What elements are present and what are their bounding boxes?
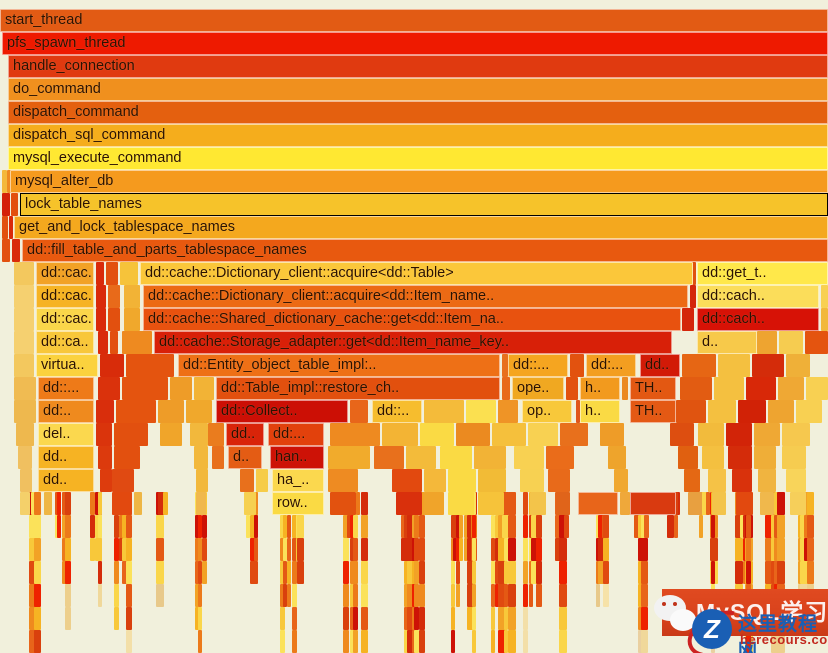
flame-frame-unlabeled[interactable] bbox=[782, 446, 806, 469]
flame-frame-labeled[interactable]: dd::cach.. bbox=[697, 308, 819, 331]
flame-frame-unlabeled[interactable] bbox=[297, 538, 304, 561]
flame-frame-unlabeled[interactable] bbox=[65, 492, 71, 515]
flame-frame-unlabeled[interactable] bbox=[160, 423, 182, 446]
flame-frame-unlabeled[interactable] bbox=[746, 538, 751, 561]
flame-frame-unlabeled[interactable] bbox=[126, 538, 132, 561]
flame-frame-unlabeled[interactable] bbox=[14, 285, 34, 308]
flame-frame-unlabeled[interactable] bbox=[456, 561, 460, 584]
flame-frame-unlabeled[interactable] bbox=[11, 193, 18, 216]
flame-frame-unlabeled[interactable] bbox=[126, 515, 132, 538]
flame-frame-unlabeled[interactable] bbox=[280, 630, 285, 653]
flame-frame-unlabeled[interactable] bbox=[292, 630, 297, 653]
flame-frame-unlabeled[interactable] bbox=[777, 538, 785, 561]
flame-frame-unlabeled[interactable] bbox=[735, 538, 743, 561]
flame-frame-unlabeled[interactable] bbox=[126, 561, 132, 584]
flame-frame-unlabeled[interactable] bbox=[106, 262, 118, 285]
flame-frame-unlabeled[interactable] bbox=[186, 400, 212, 423]
flame-frame-unlabeled[interactable] bbox=[163, 492, 168, 515]
flame-frame-unlabeled[interactable] bbox=[451, 561, 455, 584]
flame-frame-unlabeled[interactable] bbox=[419, 584, 425, 607]
flame-frame-unlabeled[interactable] bbox=[98, 377, 120, 400]
flame-frame-unlabeled[interactable] bbox=[779, 331, 803, 354]
flame-frame-unlabeled[interactable] bbox=[98, 492, 102, 515]
flame-frame-unlabeled[interactable] bbox=[212, 446, 224, 469]
flame-frame-unlabeled[interactable] bbox=[328, 469, 358, 492]
flame-frame-labeled[interactable]: dd::Entity_object_table_impl:.. bbox=[178, 354, 500, 377]
flame-frame-unlabeled[interactable] bbox=[523, 515, 528, 538]
flame-frame-unlabeled[interactable] bbox=[711, 561, 715, 584]
flame-frame-unlabeled[interactable] bbox=[100, 469, 112, 492]
flame-frame-unlabeled[interactable] bbox=[34, 630, 41, 653]
flame-frame-unlabeled[interactable] bbox=[34, 515, 41, 538]
flame-frame-unlabeled[interactable] bbox=[682, 308, 694, 331]
flame-frame-unlabeled[interactable] bbox=[98, 561, 102, 584]
flame-frame-labeled[interactable]: dd:.. bbox=[38, 400, 94, 423]
flame-frame-unlabeled[interactable] bbox=[718, 354, 750, 377]
flame-frame-labeled[interactable]: pfs_spawn_thread bbox=[2, 32, 828, 55]
flame-frame-unlabeled[interactable] bbox=[124, 308, 140, 331]
flame-frame-unlabeled[interactable] bbox=[297, 515, 304, 538]
flame-frame-labeled[interactable]: dd::Table_impl::restore_ch.. bbox=[216, 377, 500, 400]
flame-frame-unlabeled[interactable] bbox=[330, 423, 380, 446]
flame-frame-labeled[interactable]: dd::... bbox=[508, 354, 568, 377]
flame-frame-labeled[interactable]: dd::cach.. bbox=[697, 285, 819, 308]
flame-frame-unlabeled[interactable] bbox=[343, 607, 349, 630]
flame-frame-unlabeled[interactable] bbox=[514, 446, 544, 469]
flame-frame-unlabeled[interactable] bbox=[361, 630, 368, 653]
flame-frame-unlabeled[interactable] bbox=[456, 584, 460, 607]
flame-frame-unlabeled[interactable] bbox=[508, 561, 516, 584]
flame-frame-unlabeled[interactable] bbox=[9, 216, 13, 239]
flame-frame-labeled[interactable]: dd.. bbox=[226, 423, 264, 446]
flame-frame-unlabeled[interactable] bbox=[448, 469, 476, 492]
flame-frame-unlabeled[interactable] bbox=[98, 584, 102, 607]
flame-frame-unlabeled[interactable] bbox=[287, 538, 291, 561]
flame-frame-unlabeled[interactable] bbox=[746, 630, 751, 653]
flame-frame-unlabeled[interactable] bbox=[108, 285, 120, 308]
flame-frame-labeled[interactable]: dispatch_command bbox=[8, 101, 828, 124]
flame-frame-unlabeled[interactable] bbox=[800, 607, 808, 630]
flame-frame-unlabeled[interactable] bbox=[508, 630, 516, 653]
flame-frame-unlabeled[interactable] bbox=[202, 538, 207, 561]
flame-frame-unlabeled[interactable] bbox=[746, 515, 751, 538]
flame-frame[interactable] bbox=[578, 492, 618, 515]
flame-frame-unlabeled[interactable] bbox=[492, 423, 526, 446]
flame-frame-unlabeled[interactable] bbox=[478, 492, 504, 515]
flame-frame-unlabeled[interactable] bbox=[807, 538, 814, 561]
flame-frame-unlabeled[interactable] bbox=[57, 492, 61, 515]
flame-frame-unlabeled[interactable] bbox=[244, 492, 256, 515]
flame-frame-unlabeled[interactable] bbox=[126, 630, 132, 653]
flame-frame-unlabeled[interactable] bbox=[641, 630, 648, 653]
flame-frame-unlabeled[interactable] bbox=[196, 469, 208, 492]
flame-frame-unlabeled[interactable] bbox=[559, 584, 567, 607]
flame-frame-unlabeled[interactable] bbox=[674, 515, 678, 538]
flame-frame-unlabeled[interactable] bbox=[667, 515, 674, 538]
flame-frame-unlabeled[interactable] bbox=[96, 423, 112, 446]
flame-frame-labeled[interactable]: dd::cac.. bbox=[36, 285, 94, 308]
flame-frame-unlabeled[interactable] bbox=[807, 561, 814, 584]
flame-frame-labeled[interactable]: dd::get_t.. bbox=[697, 262, 828, 285]
flame-frame-unlabeled[interactable] bbox=[777, 492, 785, 515]
flame-frame-unlabeled[interactable] bbox=[680, 377, 712, 400]
flame-frame-unlabeled[interactable] bbox=[96, 285, 106, 308]
flame-frame-unlabeled[interactable] bbox=[406, 446, 436, 469]
flame-frame-unlabeled[interactable] bbox=[65, 561, 71, 584]
flame-frame-unlabeled[interactable] bbox=[361, 607, 368, 630]
flame-frame-unlabeled[interactable] bbox=[448, 492, 474, 515]
flame-frame-unlabeled[interactable] bbox=[240, 469, 254, 492]
flame-frame-unlabeled[interactable] bbox=[424, 492, 444, 515]
flame-frame-unlabeled[interactable] bbox=[603, 538, 609, 561]
flame-frame-unlabeled[interactable] bbox=[614, 469, 628, 492]
flame-frame-unlabeled[interactable] bbox=[2, 193, 10, 216]
flame-frame-unlabeled[interactable] bbox=[12, 239, 20, 262]
flame-frame-unlabeled[interactable] bbox=[796, 400, 822, 423]
flame-frame-labeled[interactable]: dd::cache::Storage_adapter::get<dd::Item… bbox=[154, 331, 672, 354]
flame-frame-unlabeled[interactable] bbox=[714, 377, 744, 400]
flame-frame-labeled[interactable]: mysql_execute_command bbox=[8, 147, 828, 170]
flame-frame-unlabeled[interactable] bbox=[491, 607, 495, 630]
flame-frame-unlabeled[interactable] bbox=[566, 377, 578, 400]
flame-frame-unlabeled[interactable] bbox=[459, 515, 463, 538]
flame-frame-unlabeled[interactable] bbox=[754, 423, 780, 446]
flame-graph-canvas[interactable]: start_threadpfs_spawn_threadhandle_conne… bbox=[0, 0, 828, 653]
flame-frame-unlabeled[interactable] bbox=[126, 354, 174, 377]
flame-frame-unlabeled[interactable] bbox=[472, 584, 476, 607]
flame-frame-unlabeled[interactable] bbox=[508, 538, 516, 561]
flame-frame-unlabeled[interactable] bbox=[126, 584, 132, 607]
flame-frame-unlabeled[interactable] bbox=[196, 492, 206, 515]
flame-frame-unlabeled[interactable] bbox=[688, 492, 702, 515]
flame-frame-labeled[interactable]: lock_table_names bbox=[20, 193, 828, 216]
flame-frame-unlabeled[interactable] bbox=[382, 423, 418, 446]
flame-frame-unlabeled[interactable] bbox=[678, 446, 698, 469]
flame-frame-unlabeled[interactable] bbox=[778, 377, 804, 400]
flame-frame-labeled[interactable]: dd.. bbox=[38, 446, 94, 469]
flame-frame-unlabeled[interactable] bbox=[622, 377, 628, 400]
flame-frame-unlabeled[interactable] bbox=[603, 584, 609, 607]
flame-frame-unlabeled[interactable] bbox=[560, 423, 588, 446]
flame-frame-unlabeled[interactable] bbox=[757, 331, 777, 354]
flame-frame-unlabeled[interactable] bbox=[559, 561, 567, 584]
flame-frame-unlabeled[interactable] bbox=[746, 584, 751, 607]
flame-frame-unlabeled[interactable] bbox=[353, 561, 358, 584]
flame-frame-unlabeled[interactable] bbox=[343, 561, 349, 584]
flame-frame-unlabeled[interactable] bbox=[726, 423, 752, 446]
flame-frame-unlabeled[interactable] bbox=[134, 492, 142, 515]
flame-frame-unlabeled[interactable] bbox=[529, 584, 533, 607]
flame-frame-unlabeled[interactable] bbox=[98, 515, 102, 538]
flame-frame-unlabeled[interactable] bbox=[120, 262, 138, 285]
flame-frame-unlabeled[interactable] bbox=[711, 515, 715, 538]
flame-frame-unlabeled[interactable] bbox=[419, 561, 425, 584]
flame-frame-unlabeled[interactable] bbox=[170, 377, 192, 400]
flame-frame-unlabeled[interactable] bbox=[34, 538, 41, 561]
flame-frame-unlabeled[interactable] bbox=[536, 561, 542, 584]
flame-frame-unlabeled[interactable] bbox=[20, 469, 32, 492]
flame-frame-unlabeled[interactable] bbox=[466, 400, 496, 423]
flame-frame-unlabeled[interactable] bbox=[96, 262, 104, 285]
flame-frame-unlabeled[interactable] bbox=[18, 446, 32, 469]
flame-frame-unlabeled[interactable] bbox=[620, 492, 630, 515]
flame-frame-unlabeled[interactable] bbox=[2, 216, 8, 239]
flame-frame-unlabeled[interactable] bbox=[676, 400, 706, 423]
flame-frame-unlabeled[interactable] bbox=[498, 400, 518, 423]
flame-frame-unlabeled[interactable] bbox=[353, 607, 358, 630]
flame-frame-unlabeled[interactable] bbox=[202, 515, 207, 538]
flame-frame-unlabeled[interactable] bbox=[114, 423, 148, 446]
flame-frame-unlabeled[interactable] bbox=[202, 561, 207, 584]
flame-frame-unlabeled[interactable] bbox=[790, 492, 806, 515]
flame-frame-unlabeled[interactable] bbox=[98, 331, 108, 354]
flame-frame-labeled[interactable]: handle_connection bbox=[8, 55, 828, 78]
flame-frame-unlabeled[interactable] bbox=[777, 561, 785, 584]
flame-frame-unlabeled[interactable] bbox=[198, 607, 202, 630]
flame-frame-labeled[interactable]: start_thread bbox=[0, 9, 828, 32]
flame-frame-unlabeled[interactable] bbox=[280, 607, 285, 630]
flame-frame-unlabeled[interactable] bbox=[424, 400, 464, 423]
flame-frame-unlabeled[interactable] bbox=[250, 561, 258, 584]
flame-frame-unlabeled[interactable] bbox=[287, 561, 291, 584]
flame-frame-unlabeled[interactable] bbox=[546, 446, 574, 469]
flame-frame-unlabeled[interactable] bbox=[777, 607, 785, 630]
flame-frame-labeled[interactable]: dd.. bbox=[640, 354, 680, 377]
flame-frame-unlabeled[interactable] bbox=[735, 561, 743, 584]
flame-frame-unlabeled[interactable] bbox=[34, 561, 41, 584]
flame-frame-unlabeled[interactable] bbox=[758, 469, 776, 492]
flame-frame-unlabeled[interactable] bbox=[96, 400, 114, 423]
flame-frame-labeled[interactable]: dispatch_sql_command bbox=[8, 124, 828, 147]
flame-frame-labeled[interactable]: del.. bbox=[38, 423, 94, 446]
flame-frame-unlabeled[interactable] bbox=[65, 584, 71, 607]
flame-frame-unlabeled[interactable] bbox=[472, 561, 476, 584]
flame-frame-unlabeled[interactable] bbox=[735, 607, 743, 630]
flame-frame-unlabeled[interactable] bbox=[292, 584, 297, 607]
flame-frame-unlabeled[interactable] bbox=[807, 584, 814, 607]
flame-frame-unlabeled[interactable] bbox=[96, 308, 106, 331]
flame-frame-unlabeled[interactable] bbox=[356, 492, 360, 515]
flame-frame-unlabeled[interactable] bbox=[110, 331, 118, 354]
flame-frame-labeled[interactable]: h.. bbox=[580, 377, 620, 400]
flame-frame-labeled[interactable]: op.. bbox=[522, 400, 572, 423]
flame-frame-unlabeled[interactable] bbox=[608, 446, 626, 469]
flame-frame-unlabeled[interactable] bbox=[670, 423, 694, 446]
flame-frame-unlabeled[interactable] bbox=[114, 584, 119, 607]
flame-frame-unlabeled[interactable] bbox=[114, 607, 119, 630]
flame-frame-labeled[interactable]: dd::Collect.. bbox=[216, 400, 348, 423]
flame-frame-unlabeled[interactable] bbox=[112, 469, 134, 492]
flame-frame-unlabeled[interactable] bbox=[559, 538, 567, 561]
flame-frame-unlabeled[interactable] bbox=[114, 446, 140, 469]
flame-frame-labeled[interactable]: dd::cache::Dictionary_client::acquire<dd… bbox=[140, 262, 693, 285]
flame-frame-unlabeled[interactable] bbox=[508, 584, 516, 607]
flame-frame-unlabeled[interactable] bbox=[559, 630, 567, 653]
flame-frame-labeled[interactable]: dd.. bbox=[38, 469, 94, 492]
flame-frame-unlabeled[interactable] bbox=[156, 584, 164, 607]
flame-frame-unlabeled[interactable] bbox=[738, 400, 766, 423]
flame-frame-unlabeled[interactable] bbox=[528, 423, 558, 446]
flame-frame-unlabeled[interactable] bbox=[472, 630, 476, 653]
flame-frame-labeled[interactable]: ope.. bbox=[512, 377, 564, 400]
flame-frame-unlabeled[interactable] bbox=[746, 607, 751, 630]
flame-frame-unlabeled[interactable] bbox=[641, 561, 648, 584]
flame-frame-unlabeled[interactable] bbox=[523, 607, 528, 630]
flame-frame-unlabeled[interactable] bbox=[711, 538, 715, 561]
flame-frame-unlabeled[interactable] bbox=[711, 607, 715, 630]
flame-frame-unlabeled[interactable] bbox=[548, 469, 570, 492]
flame-frame-unlabeled[interactable] bbox=[698, 423, 724, 446]
flame-frame-unlabeled[interactable] bbox=[297, 561, 304, 584]
flame-frame-unlabeled[interactable] bbox=[112, 492, 132, 515]
flame-frame-unlabeled[interactable] bbox=[424, 469, 446, 492]
flame-frame-unlabeled[interactable] bbox=[353, 584, 358, 607]
flame-frame-unlabeled[interactable] bbox=[786, 354, 810, 377]
flame-frame-unlabeled[interactable] bbox=[292, 607, 297, 630]
flame-frame-unlabeled[interactable] bbox=[735, 584, 743, 607]
flame-frame-unlabeled[interactable] bbox=[746, 561, 751, 584]
flame-frame-unlabeled[interactable] bbox=[361, 584, 368, 607]
flame-frame-labeled[interactable]: dd::fill_table_and_parts_tablespace_name… bbox=[22, 239, 828, 262]
flame-frame-unlabeled[interactable] bbox=[65, 607, 71, 630]
flame-frame-unlabeled[interactable] bbox=[287, 515, 291, 538]
flame-frame-labeled[interactable]: mysql_alter_db bbox=[10, 170, 828, 193]
flame-frame-unlabeled[interactable] bbox=[420, 423, 454, 446]
flame-frame-unlabeled[interactable] bbox=[116, 400, 156, 423]
flame-frame-unlabeled[interactable] bbox=[732, 469, 752, 492]
flame-frame-unlabeled[interactable] bbox=[34, 607, 41, 630]
flame-frame-unlabeled[interactable] bbox=[198, 630, 202, 653]
flame-frame-unlabeled[interactable] bbox=[699, 515, 703, 538]
flame-frame-labeled[interactable]: dd::cache::Shared_dictionary_cache::get<… bbox=[143, 308, 681, 331]
flame-frame-labeled[interactable]: dd::cache::Dictionary_client::acquire<dd… bbox=[143, 285, 688, 308]
flame-frame-unlabeled[interactable] bbox=[520, 469, 544, 492]
flame-frame-unlabeled[interactable] bbox=[736, 492, 752, 515]
flame-frame-unlabeled[interactable] bbox=[508, 492, 516, 515]
flame-frame-unlabeled[interactable] bbox=[419, 515, 425, 538]
flame-frame-unlabeled[interactable] bbox=[353, 538, 358, 561]
flame-frame-unlabeled[interactable] bbox=[419, 607, 425, 630]
flame-frame-unlabeled[interactable] bbox=[644, 515, 649, 538]
flame-frame-unlabeled[interactable] bbox=[782, 423, 810, 446]
flame-frame-unlabeled[interactable] bbox=[536, 515, 542, 538]
flame-frame-unlabeled[interactable] bbox=[14, 377, 36, 400]
flame-frame-unlabeled[interactable] bbox=[777, 630, 785, 653]
flame-frame-labeled[interactable]: dd::cac.. bbox=[36, 308, 94, 331]
flame-frame-unlabeled[interactable] bbox=[451, 630, 455, 653]
flame-frame-unlabeled[interactable] bbox=[752, 354, 784, 377]
flame-frame-unlabeled[interactable] bbox=[126, 607, 132, 630]
flame-frame-unlabeled[interactable] bbox=[254, 538, 258, 561]
flame-frame-unlabeled[interactable] bbox=[777, 515, 785, 538]
flame-frame-unlabeled[interactable] bbox=[20, 492, 30, 515]
flame-frame-unlabeled[interactable] bbox=[2, 239, 10, 262]
flame-frame-unlabeled[interactable] bbox=[256, 469, 268, 492]
flame-frame-unlabeled[interactable] bbox=[760, 492, 774, 515]
flame-frame-labeled[interactable]: row.. bbox=[272, 492, 324, 515]
flame-frame-labeled[interactable]: d.. bbox=[697, 331, 757, 354]
flame-frame-unlabeled[interactable] bbox=[158, 400, 184, 423]
flame-frame-unlabeled[interactable] bbox=[708, 400, 736, 423]
flame-frame-unlabeled[interactable] bbox=[328, 446, 370, 469]
flame-frame-unlabeled[interactable] bbox=[472, 607, 476, 630]
flame-frame-unlabeled[interactable] bbox=[523, 561, 528, 584]
flame-frame-unlabeled[interactable] bbox=[343, 584, 349, 607]
flame-frame-unlabeled[interactable] bbox=[65, 515, 71, 538]
flame-frame-unlabeled[interactable] bbox=[122, 331, 152, 354]
flame-frame-unlabeled[interactable] bbox=[768, 400, 794, 423]
flame-frame-unlabeled[interactable] bbox=[508, 607, 516, 630]
flame-frame-unlabeled[interactable] bbox=[711, 630, 715, 653]
flame-frame-unlabeled[interactable] bbox=[16, 423, 34, 446]
flame-frame-unlabeled[interactable] bbox=[536, 584, 542, 607]
flame-frame-unlabeled[interactable] bbox=[14, 354, 34, 377]
flame-frame-unlabeled[interactable] bbox=[156, 561, 164, 584]
flame-frame-unlabeled[interactable] bbox=[44, 492, 52, 515]
flame-frame-unlabeled[interactable] bbox=[34, 492, 41, 515]
flame-frame-unlabeled[interactable] bbox=[536, 538, 542, 561]
flame-frame-unlabeled[interactable] bbox=[523, 538, 528, 561]
flame-frame-unlabeled[interactable] bbox=[777, 584, 785, 607]
flame-frame-unlabeled[interactable] bbox=[684, 469, 700, 492]
flame-frame-unlabeled[interactable] bbox=[600, 423, 624, 446]
flame-frame-unlabeled[interactable] bbox=[603, 515, 609, 538]
flame-frame-unlabeled[interactable] bbox=[330, 492, 356, 515]
flame-frame-unlabeled[interactable] bbox=[786, 469, 806, 492]
flame-frame-unlabeled[interactable] bbox=[14, 262, 34, 285]
flame-frame-unlabeled[interactable] bbox=[491, 630, 495, 653]
flame-frame-labeled[interactable]: dd::ca.. bbox=[36, 331, 94, 354]
flame-frame-unlabeled[interactable] bbox=[807, 515, 814, 538]
flame-frame-unlabeled[interactable] bbox=[456, 423, 490, 446]
flame-frame-unlabeled[interactable] bbox=[523, 630, 528, 653]
flame-frame-unlabeled[interactable] bbox=[807, 492, 814, 515]
flame-frame-unlabeled[interactable] bbox=[523, 492, 528, 515]
flame-frame-unlabeled[interactable] bbox=[556, 492, 570, 515]
flame-frame-unlabeled[interactable] bbox=[343, 630, 349, 653]
flame-frame-unlabeled[interactable] bbox=[194, 446, 208, 469]
flame-frame-unlabeled[interactable] bbox=[478, 469, 506, 492]
flame-frame-unlabeled[interactable] bbox=[122, 377, 168, 400]
flame-frame-unlabeled[interactable] bbox=[361, 515, 368, 538]
flame-frame-unlabeled[interactable] bbox=[14, 331, 34, 354]
flame-frame-unlabeled[interactable] bbox=[361, 492, 368, 515]
flame-frame-unlabeled[interactable] bbox=[712, 492, 726, 515]
flame-frame-unlabeled[interactable] bbox=[508, 515, 516, 538]
flame-frame-unlabeled[interactable] bbox=[156, 515, 164, 538]
flame-frame-labeled[interactable]: dd::cac.. bbox=[36, 262, 94, 285]
flame-frame-unlabeled[interactable] bbox=[708, 469, 726, 492]
flame-frame-unlabeled[interactable] bbox=[57, 515, 61, 538]
flame-frame-unlabeled[interactable] bbox=[108, 308, 120, 331]
flame-frame-labeled[interactable]: TH.. bbox=[630, 400, 676, 423]
flame-frame-unlabeled[interactable] bbox=[14, 308, 34, 331]
flame-frame-unlabeled[interactable] bbox=[287, 584, 291, 607]
flame-frame-unlabeled[interactable] bbox=[728, 446, 752, 469]
flame-frame-labeled[interactable]: dd:... bbox=[268, 423, 324, 446]
flame-frame[interactable] bbox=[630, 492, 676, 515]
flame-frame-labeled[interactable]: h.. bbox=[580, 400, 620, 423]
flame-frame-unlabeled[interactable] bbox=[472, 538, 476, 561]
flame-frame-unlabeled[interactable] bbox=[361, 538, 368, 561]
flame-frame-unlabeled[interactable] bbox=[419, 538, 425, 561]
flame-frame-unlabeled[interactable] bbox=[156, 538, 164, 561]
flame-frame-unlabeled[interactable] bbox=[641, 607, 648, 630]
flame-frame-labeled[interactable]: han.. bbox=[270, 446, 324, 469]
flame-frame-unlabeled[interactable] bbox=[98, 538, 102, 561]
flame-frame-unlabeled[interactable] bbox=[98, 446, 112, 469]
flame-frame-labeled[interactable]: do_command bbox=[8, 78, 828, 101]
